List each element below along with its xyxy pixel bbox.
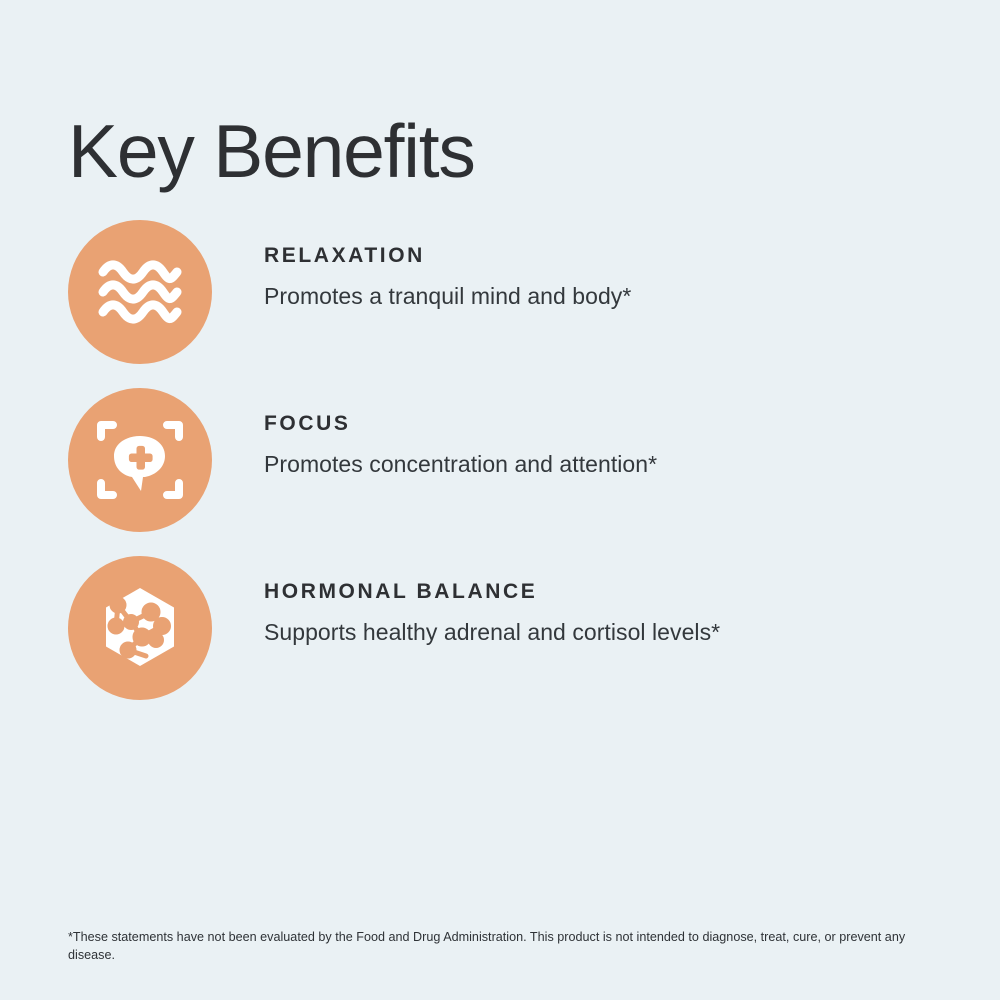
benefit-item-relaxation: RELAXATION Promotes a tranquil mind and … xyxy=(68,220,948,364)
benefit-icon-badge xyxy=(68,556,212,700)
benefit-text-block: HORMONAL BALANCE Supports healthy adrena… xyxy=(212,556,948,648)
benefit-description: Promotes concentration and attention* xyxy=(264,450,948,480)
benefit-description: Promotes a tranquil mind and body* xyxy=(264,282,948,312)
key-benefits-panel: Key Benefits RELAXATION Promotes a tr xyxy=(0,0,1000,1000)
benefit-text-block: FOCUS Promotes concentration and attenti… xyxy=(212,388,948,480)
brain-focus-icon xyxy=(95,415,185,505)
benefit-icon-badge xyxy=(68,388,212,532)
benefit-icon-badge xyxy=(68,220,212,364)
benefit-item-focus: FOCUS Promotes concentration and attenti… xyxy=(68,388,948,532)
fda-disclaimer-footnote: *These statements have not been evaluate… xyxy=(68,928,930,965)
molecule-hexagon-icon xyxy=(94,582,186,674)
waves-icon xyxy=(98,259,182,325)
benefits-list: RELAXATION Promotes a tranquil mind and … xyxy=(68,220,948,724)
benefit-heading: HORMONAL BALANCE xyxy=(264,580,948,604)
benefit-description: Supports healthy adrenal and cortisol le… xyxy=(264,618,948,648)
benefit-heading: RELAXATION xyxy=(264,244,948,268)
benefit-heading: FOCUS xyxy=(264,412,948,436)
benefit-text-block: RELAXATION Promotes a tranquil mind and … xyxy=(212,220,948,312)
benefit-item-hormonal-balance: HORMONAL BALANCE Supports healthy adrena… xyxy=(68,556,948,700)
page-title: Key Benefits xyxy=(68,114,475,189)
